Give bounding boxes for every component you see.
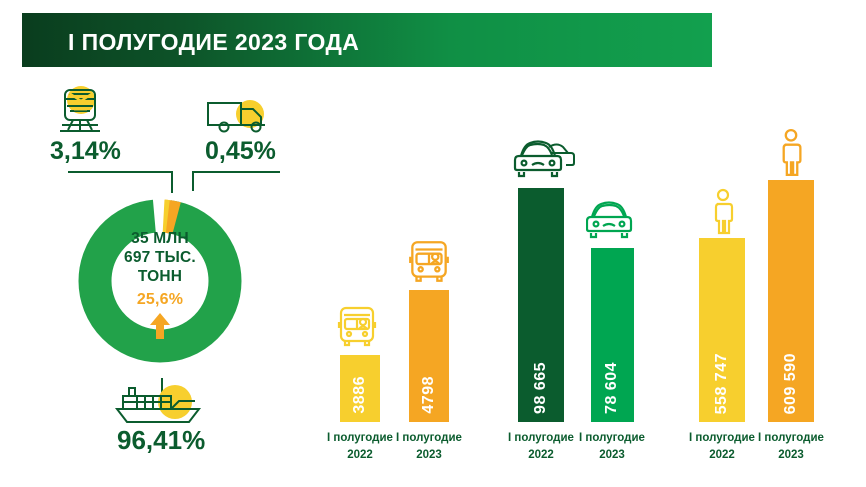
page-title: I ПОЛУГОДИЕ 2023 ГОДА: [68, 29, 359, 56]
caption-line-1: I полугодие: [386, 430, 472, 447]
car-icon-2022: [513, 137, 575, 186]
bus-icon-2023: [404, 237, 454, 292]
bar-value-buses-2023: 4798: [420, 376, 438, 414]
bar-value-passengers-2023: 609 590: [782, 353, 800, 414]
bar-passengers-2022: 558 747: [699, 238, 745, 422]
transport-share-donut: 35 МЛН 697 ТЫС. ТОНН 25,6%: [78, 176, 242, 394]
bar-caption-cars-2023: I полугодие 2023: [569, 430, 655, 464]
person-icon-2022: [708, 188, 738, 241]
sea-share-label: 96,41%: [117, 425, 205, 456]
caption-line-2: 2023: [569, 447, 655, 464]
bar-passengers-2023: 609 590: [768, 180, 814, 422]
ship-icon: [111, 382, 211, 431]
bar-buses-2022: 3886: [340, 355, 380, 422]
bar-value-cars-2023: 78 604: [603, 362, 621, 414]
caption-line-2: 2023: [386, 447, 472, 464]
bar-value-passengers-2022: 558 747: [713, 353, 731, 414]
bar-cars-2022: 98 665: [518, 188, 564, 422]
bar-caption-buses-2023: I полугодие 2023: [386, 430, 472, 464]
bus-icon-2022: [333, 303, 381, 356]
caption-line-2: 2023: [748, 447, 834, 464]
leader-line-road-horizontal: [192, 171, 280, 173]
car-icon-2023: [586, 198, 636, 247]
bar-value-buses-2022: 3886: [351, 376, 369, 414]
leader-line-rail-horizontal: [68, 171, 173, 173]
bar-value-cars-2022: 98 665: [532, 362, 550, 414]
train-icon: [52, 84, 108, 139]
road-share-label: 0,45%: [205, 137, 276, 166]
bar-buses-2023: 4798: [409, 290, 449, 422]
caption-line-1: I полугодие: [748, 430, 834, 447]
person-icon-2023: [775, 128, 807, 183]
caption-line-1: I полугодие: [569, 430, 655, 447]
bar-caption-passengers-2023: I полугодие 2023: [748, 430, 834, 464]
truck-icon: [203, 95, 275, 142]
infographic-root: I ПОЛУГОДИЕ 2023 ГОДА 3,14%: [0, 0, 866, 487]
rail-share-label: 3,14%: [50, 137, 121, 166]
bar-cars-2023: 78 604: [591, 248, 634, 422]
